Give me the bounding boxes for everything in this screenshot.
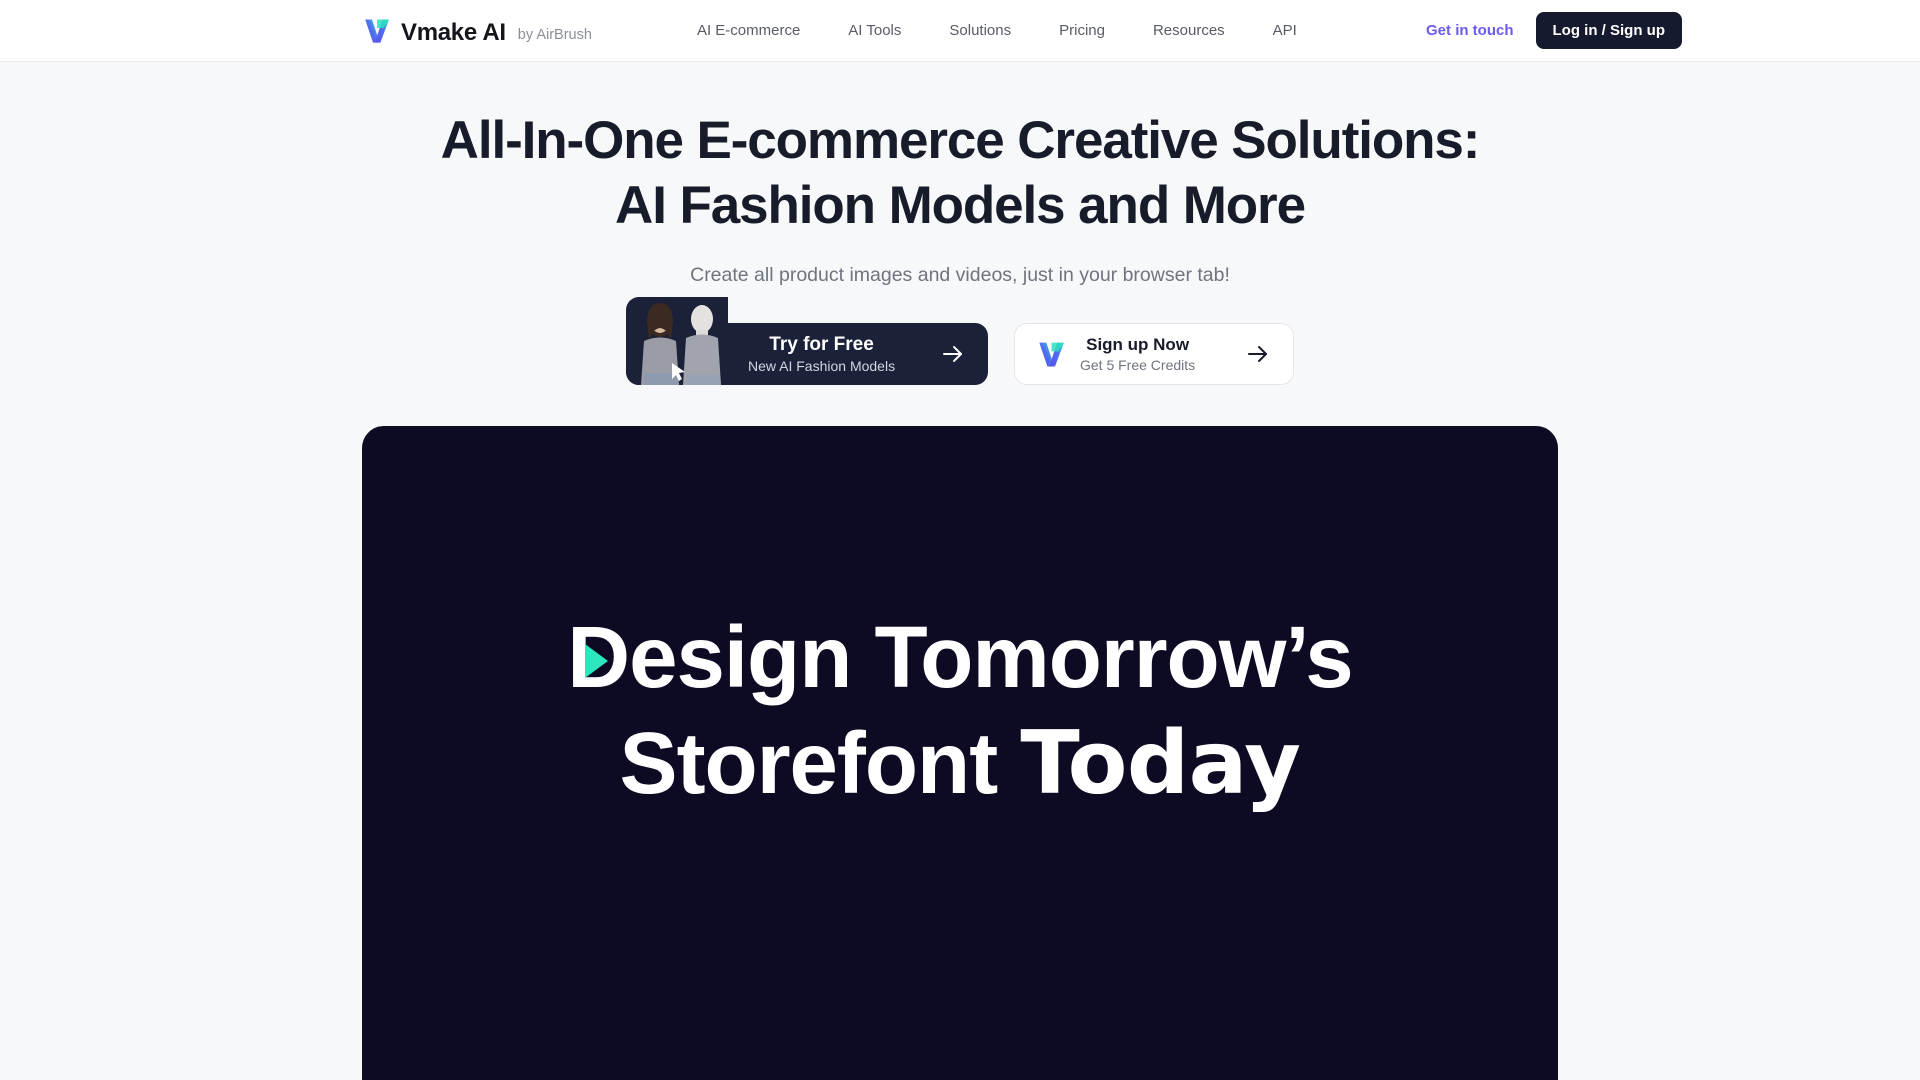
sign-up-now-subtitle: Get 5 Free Credits <box>1080 357 1195 374</box>
vmake-v-logo-icon <box>1036 339 1067 370</box>
arrow-right-icon <box>941 342 965 366</box>
hero-video-headline-line-2: Storefont Today <box>432 713 1488 815</box>
try-for-free-title: Try for Free <box>748 334 895 356</box>
page-title: All-In-One E-commerce Creative Solutions… <box>370 109 1550 238</box>
hero-video-headline: Design Tomorrow’s Storefont Today <box>362 608 1558 815</box>
hero-video-panel[interactable]: Design Tomorrow’s Storefont Today <box>362 426 1558 1080</box>
try-for-free-text: Try for Free New AI Fashion Models <box>748 334 895 375</box>
sign-up-now-title: Sign up Now <box>1080 335 1195 355</box>
hero-title-line-1: All-In-One E-commerce Creative Solutions… <box>441 111 1480 170</box>
try-for-free-subtitle: New AI Fashion Models <box>748 358 895 375</box>
nav-item-pricing[interactable]: Pricing <box>1035 16 1129 46</box>
try-for-free-button[interactable]: Try for Free New AI Fashion Models <box>626 323 988 385</box>
hero-video-headline-line-2-a: Storefont <box>620 715 1021 812</box>
arrow-right-icon <box>1246 342 1270 366</box>
hero-video-headline-line-1-text: Design Tomorrow’s <box>567 609 1352 706</box>
brand-logo[interactable]: Vmake AI by AirBrush <box>362 16 592 46</box>
vmake-v-logo-icon <box>362 16 392 46</box>
brand-byline: by AirBrush <box>518 28 592 43</box>
sign-up-now-button[interactable]: Sign up Now Get 5 Free Credits <box>1014 323 1294 385</box>
nav-item-resources[interactable]: Resources <box>1129 16 1249 46</box>
nav-item-api[interactable]: API <box>1249 16 1321 46</box>
hero-video-headline-line-2-b: Today <box>1020 712 1300 814</box>
hero-subtitle: Create all product images and videos, ju… <box>0 264 1920 287</box>
nav-item-ai-ecommerce[interactable]: AI E-commerce <box>673 16 824 46</box>
hero-title-line-2: AI Fashion Models and More <box>615 176 1305 235</box>
sign-up-now-text: Sign up Now Get 5 Free Credits <box>1080 335 1195 373</box>
get-in-touch-link[interactable]: Get in touch <box>1426 22 1514 39</box>
header-actions: Get in touch Log in / Sign up <box>1426 12 1682 49</box>
ai-fashion-models-photo <box>626 297 728 385</box>
login-signup-button[interactable]: Log in / Sign up <box>1536 12 1682 49</box>
nav-item-ai-tools[interactable]: AI Tools <box>824 16 925 46</box>
hero-section: All-In-One E-commerce Creative Solutions… <box>0 62 1920 385</box>
site-header: Vmake AI by AirBrush AI E-commerce AI To… <box>0 0 1920 62</box>
brand-name: Vmake AI <box>401 21 506 45</box>
main-nav: AI E-commerce AI Tools Solutions Pricing… <box>673 16 1321 46</box>
hero-video-headline-line-1: Design Tomorrow’s <box>567 608 1352 709</box>
nav-item-solutions[interactable]: Solutions <box>925 16 1035 46</box>
cta-row: Try for Free New AI Fashion Models <box>0 323 1920 385</box>
